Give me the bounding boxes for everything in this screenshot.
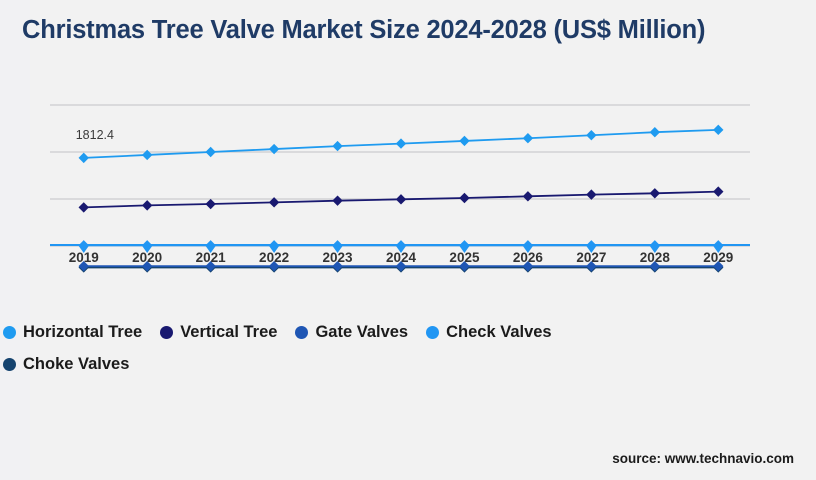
x-axis-tick-label: 2026 bbox=[513, 250, 543, 265]
x-axis-tick-label: 2029 bbox=[703, 250, 733, 265]
page-title: Christmas Tree Valve Market Size 2024-20… bbox=[22, 16, 762, 45]
data-point-marker bbox=[396, 194, 406, 204]
data-point-marker bbox=[332, 195, 342, 205]
data-point-marker bbox=[586, 130, 596, 140]
data-point-marker bbox=[713, 125, 723, 135]
data-point-marker bbox=[523, 133, 533, 143]
x-axis-tick-label: 2025 bbox=[449, 250, 479, 265]
data-point-marker bbox=[650, 188, 660, 198]
legend-item-label: Check Valves bbox=[446, 323, 552, 342]
x-axis-tick-label: 2023 bbox=[323, 250, 353, 265]
source-attribution: source: www.technavio.com bbox=[612, 451, 794, 466]
x-axis-tick-label: 2024 bbox=[386, 250, 416, 265]
series-horizontal-tree bbox=[79, 125, 724, 163]
x-axis-tick-label: 2019 bbox=[69, 250, 99, 265]
x-axis-tick-label: 2020 bbox=[132, 250, 162, 265]
legend-item-vertical-tree[interactable]: Vertical Tree bbox=[160, 320, 277, 344]
data-point-marker bbox=[459, 193, 469, 203]
x-axis-tick-label: 2021 bbox=[196, 250, 226, 265]
data-point-marker bbox=[205, 147, 215, 157]
data-point-marker bbox=[396, 138, 406, 148]
data-point-marker bbox=[713, 186, 723, 196]
plot-area: 1812.4 bbox=[0, 85, 786, 275]
data-point-marker bbox=[459, 136, 469, 146]
data-point-marker bbox=[79, 153, 89, 163]
legend-item-horizontal-tree[interactable]: Horizontal Tree bbox=[3, 320, 142, 344]
data-point-marker bbox=[205, 199, 215, 209]
data-point-marker bbox=[523, 191, 533, 201]
x-axis-tick-label: 2022 bbox=[259, 250, 289, 265]
data-point-marker bbox=[79, 202, 89, 212]
legend-item-gate-valves[interactable]: Gate Valves bbox=[295, 320, 408, 344]
legend-item-label: Gate Valves bbox=[315, 323, 408, 342]
chart-legend: Horizontal TreeVertical TreeGate ValvesC… bbox=[3, 320, 773, 376]
legend-marker-icon bbox=[3, 326, 16, 339]
legend-marker-icon bbox=[295, 326, 308, 339]
data-label: 1812.4 bbox=[76, 128, 114, 142]
x-axis-tick-label: 2028 bbox=[640, 250, 670, 265]
x-axis-tick-label: 2027 bbox=[576, 250, 606, 265]
legend-item-label: Vertical Tree bbox=[180, 323, 277, 342]
x-axis-labels: 2019202020212022202320242025202620272028… bbox=[0, 250, 786, 276]
legend-item-label: Choke Valves bbox=[23, 355, 129, 374]
data-point-marker bbox=[332, 141, 342, 151]
chart-page: Christmas Tree Valve Market Size 2024-20… bbox=[0, 0, 816, 480]
data-point-marker bbox=[650, 127, 660, 137]
legend-item-label: Horizontal Tree bbox=[23, 323, 142, 342]
legend-marker-icon bbox=[426, 326, 439, 339]
legend-item-check-valves[interactable]: Check Valves bbox=[426, 320, 552, 344]
legend-items: Horizontal TreeVertical TreeGate ValvesC… bbox=[3, 320, 773, 376]
line-chart-svg bbox=[0, 85, 786, 275]
legend-marker-icon bbox=[160, 326, 173, 339]
legend-item-choke-valves[interactable]: Choke Valves bbox=[3, 352, 129, 376]
legend-marker-icon bbox=[3, 358, 16, 371]
data-point-marker bbox=[142, 200, 152, 210]
